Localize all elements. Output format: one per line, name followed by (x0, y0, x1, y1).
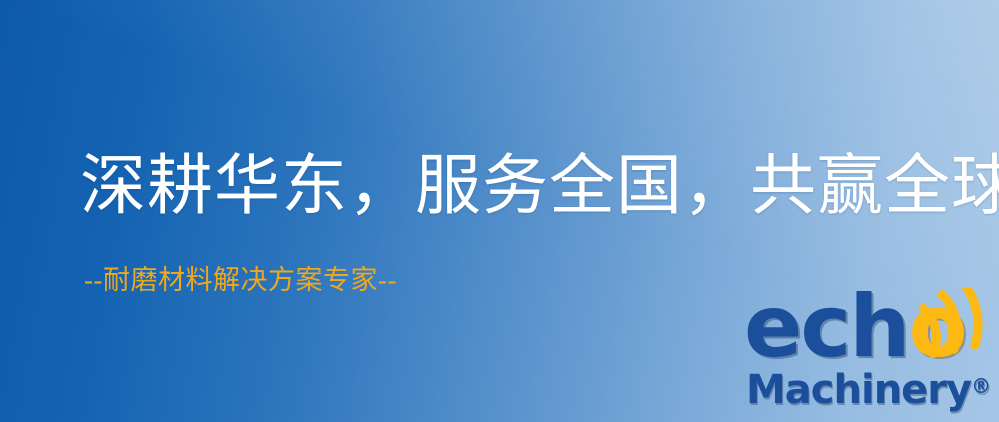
logo-tagline: Machinery® (746, 370, 991, 410)
logo-tagline-text: Machinery (746, 367, 971, 413)
banner-subtitle: --耐磨材料解决方案专家-- (84, 266, 397, 296)
registered-trademark-icon: ® (971, 374, 991, 398)
logo-word-prefix: ech (744, 277, 909, 377)
echo-machinery-logo[interactable]: echo Machinery® (744, 292, 999, 422)
promo-banner: 深耕华东，服务全国，共赢全球 --耐磨材料解决方案专家-- echo Machi… (0, 0, 999, 422)
banner-headline: 深耕华东，服务全国，共赢全球 (80, 152, 999, 221)
echo-wave-icon (914, 288, 999, 364)
